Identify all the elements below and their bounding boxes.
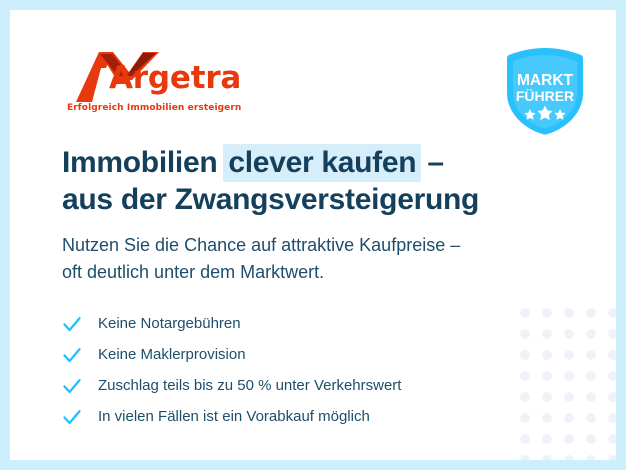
dot: [608, 392, 616, 402]
list-item-label: In vielen Fällen ist ein Vorabkauf mögli…: [98, 407, 370, 427]
dot: [608, 371, 616, 381]
dot: [520, 350, 530, 360]
check-icon: [62, 407, 82, 427]
dot: [542, 308, 552, 318]
shield-icon: MARKT FÜHRER: [499, 45, 591, 137]
dot: [520, 434, 530, 444]
headline-text-before: Immobilien: [62, 146, 225, 179]
dot: [542, 455, 552, 460]
dot: [542, 371, 552, 381]
dot: [542, 413, 552, 423]
dot: [608, 413, 616, 423]
dot: [586, 392, 596, 402]
logo-wordmark: Argetra: [109, 58, 241, 98]
headline-highlight: clever kaufen: [223, 144, 421, 182]
dot: [542, 392, 552, 402]
dot: [542, 329, 552, 339]
list-item-label: Keine Notargebühren: [98, 314, 241, 334]
dot: [586, 350, 596, 360]
dot: [564, 413, 574, 423]
subheadline: Nutzen Sie die Chance auf attraktive Kau…: [62, 232, 542, 286]
dot: [586, 329, 596, 339]
dot: [520, 308, 530, 318]
check-icon: [62, 345, 82, 365]
dot: [542, 350, 552, 360]
market-leader-badge: MARKT FÜHRER: [499, 45, 591, 137]
dot: [564, 350, 574, 360]
list-item: Keine Maklerprovision: [62, 339, 512, 370]
banner-card: Argetra Erfolgreich Immobilien ersteiger…: [10, 10, 616, 460]
dot: [586, 434, 596, 444]
dot: [608, 350, 616, 360]
list-item: Keine Notargebühren: [62, 308, 512, 339]
dot: [586, 413, 596, 423]
dot: [564, 308, 574, 318]
list-item-label: Keine Maklerprovision: [98, 345, 246, 365]
dot: [564, 434, 574, 444]
headline-line2: aus der Zwangsversteigerung: [62, 183, 479, 216]
dot: [520, 413, 530, 423]
dot: [586, 455, 596, 460]
subheadline-line2: oft deutlich unter dem Marktwert.: [62, 262, 324, 282]
dot: [542, 434, 552, 444]
check-icon: [62, 376, 82, 396]
dot-grid-decoration: [520, 308, 616, 460]
dot: [608, 434, 616, 444]
check-icon: [62, 314, 82, 334]
list-item: In vielen Fällen ist ein Vorabkauf mögli…: [62, 401, 512, 432]
page-title: Immobilien clever kaufen – aus der Zwang…: [62, 144, 532, 218]
dot: [564, 392, 574, 402]
badge-line2: FÜHRER: [516, 88, 574, 104]
dot: [564, 371, 574, 381]
dot: [520, 455, 530, 460]
badge-line1: MARKT: [517, 72, 573, 89]
dot: [520, 392, 530, 402]
list-item: Zuschlag teils bis zu 50 % unter Verkehr…: [62, 370, 512, 401]
dot: [564, 329, 574, 339]
dot: [608, 329, 616, 339]
dot: [520, 371, 530, 381]
benefits-list: Keine Notargebühren Keine Maklerprovisio…: [62, 308, 512, 432]
dot: [586, 371, 596, 381]
dot: [608, 308, 616, 318]
dot: [520, 329, 530, 339]
subheadline-line1: Nutzen Sie die Chance auf attraktive Kau…: [62, 235, 460, 255]
dot: [608, 455, 616, 460]
promo-banner: Argetra Erfolgreich Immobilien ersteiger…: [0, 0, 626, 470]
logo-tagline: Erfolgreich Immobilien ersteigern: [67, 103, 241, 113]
dot: [564, 455, 574, 460]
headline-line1: Immobilien clever kaufen –: [62, 146, 444, 179]
list-item-label: Zuschlag teils bis zu 50 % unter Verkehr…: [98, 376, 401, 396]
headline-text-after: –: [419, 146, 443, 179]
dot: [586, 308, 596, 318]
argetra-logo: Argetra Erfolgreich Immobilien ersteiger…: [66, 50, 216, 116]
